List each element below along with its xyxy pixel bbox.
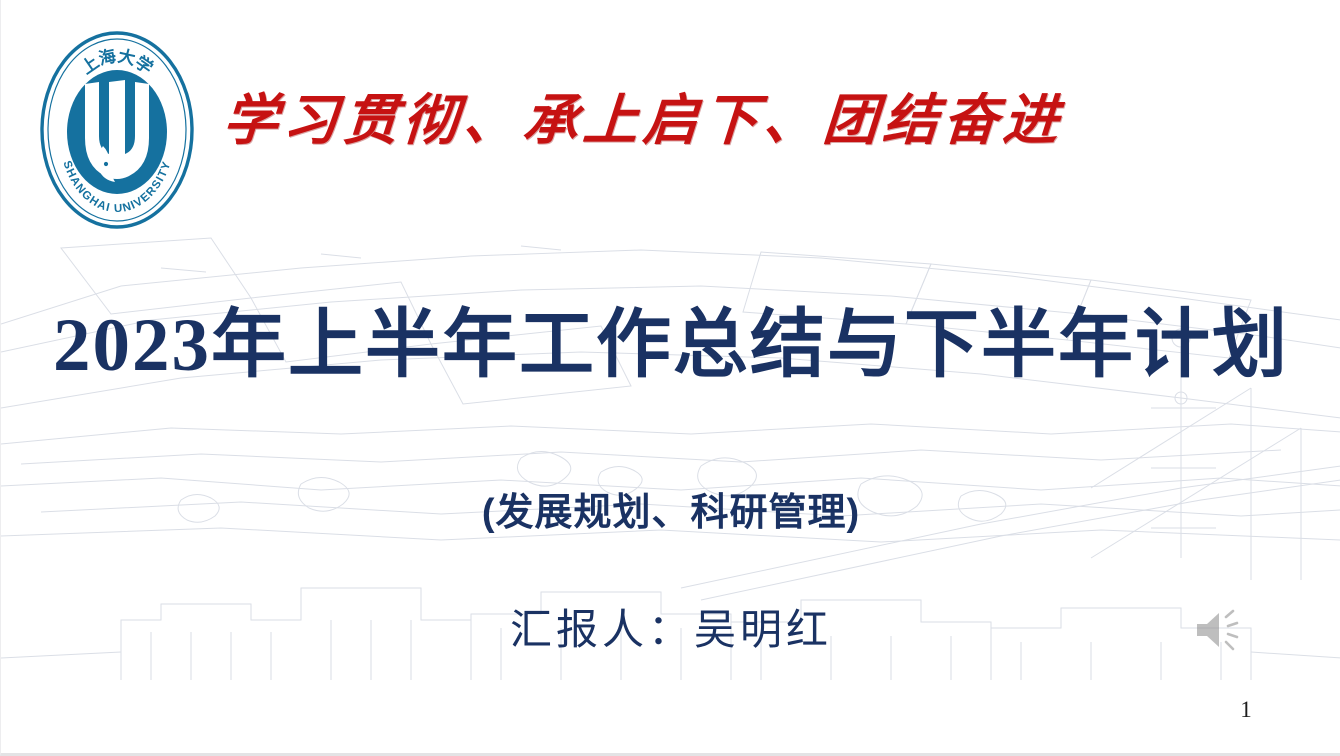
slogan-calligraphy: 学习贯彻、承上启下、团结奋进 xyxy=(221,93,965,148)
shanghai-university-logo: 上海大学 SHANGHAI UNIVERSITY xyxy=(37,26,197,234)
presenter-line: 汇报人：吴明红 xyxy=(1,608,1340,654)
presentation-slide: 上海大学 SHANGHAI UNIVERSITY 学习贯彻、承上启下、团结奋进 … xyxy=(0,0,1340,756)
speaker-icon[interactable] xyxy=(1193,606,1251,654)
page-subtitle: (发展规划、科研管理) xyxy=(1,493,1340,535)
page-number: 1 xyxy=(1216,698,1276,721)
page-title: 2023年上半年工作总结与下半年计划 xyxy=(1,305,1340,386)
